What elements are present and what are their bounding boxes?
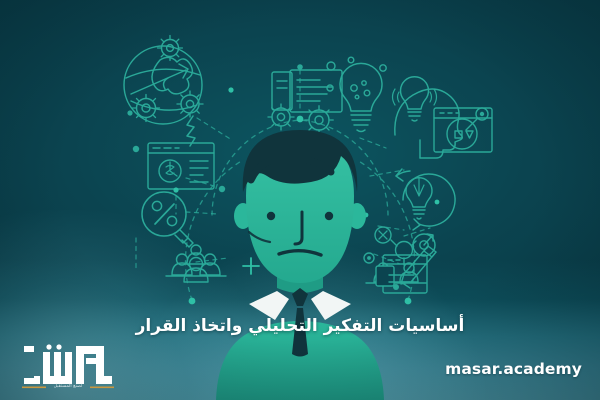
man-thinking-illustration: [216, 130, 384, 400]
masar-logo[interactable]: لصنع المستقبل: [16, 338, 120, 392]
page-title: أساسيات التفكير التحليلي واتخاذ القرار: [0, 316, 600, 337]
plus-spark-icon: [243, 258, 259, 274]
target-arrow-icon: [413, 234, 435, 256]
website-label: masar.academy: [445, 360, 582, 378]
percent-magnifier-icon: [142, 192, 193, 247]
globe-gears-puzzle-icon: [124, 36, 203, 146]
lightbulb-cycle-icon: [396, 169, 455, 230]
document-pencil-icon: [364, 246, 436, 293]
masar-logo-tagline: لصنع المستقبل: [16, 384, 120, 389]
monitor-analytics-icon: [434, 108, 492, 152]
lightbulb-bubbles-icon: [327, 57, 386, 131]
course-banner: أساسيات التفكير التحليلي واتخاذ القرار m…: [0, 0, 600, 400]
group-people-icon: [166, 245, 226, 282]
